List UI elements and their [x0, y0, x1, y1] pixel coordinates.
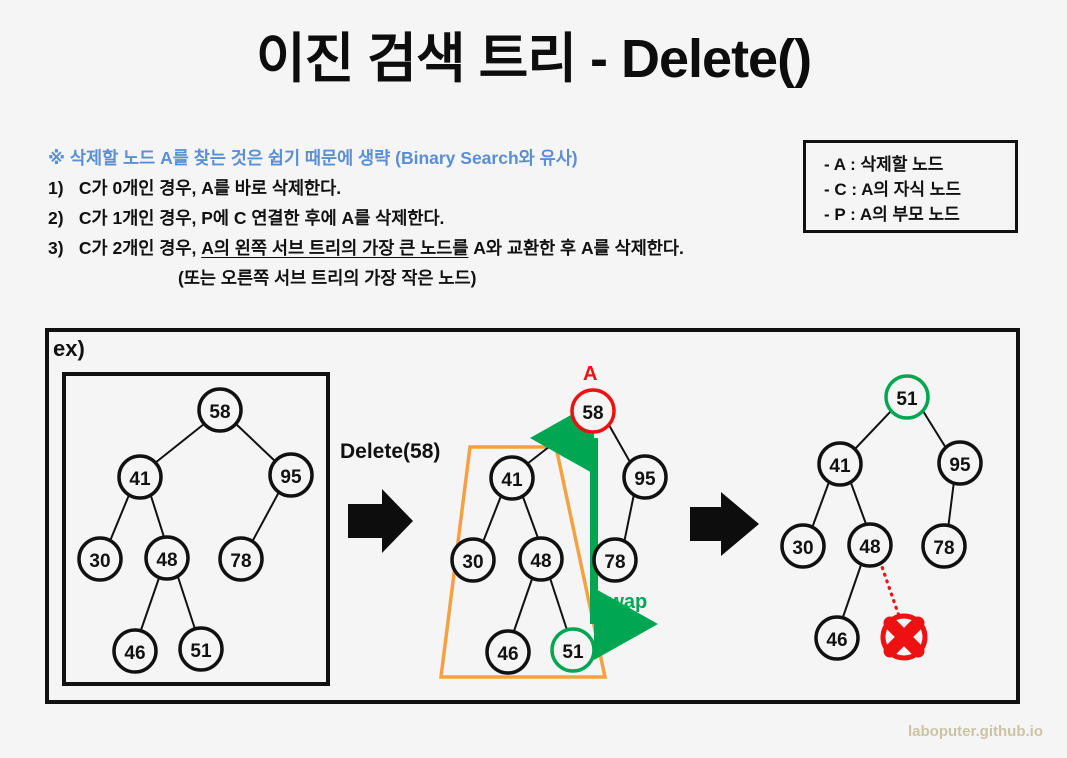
note-index-1: 1): [48, 173, 74, 203]
note-line-4: (또는 오른쪽 서브 트리의 가장 작은 노드): [48, 263, 808, 293]
delete-call-label: Delete(58): [340, 440, 440, 464]
note-line-1: 1) C가 0개인 경우, A를 바로 삭제한다.: [48, 173, 808, 203]
note-index-3: 3): [48, 233, 74, 263]
legend-box: - A : 삭제할 노드 - C : A의 자식 노드 - P : A의 부모 …: [803, 140, 1018, 233]
example-label: ex): [53, 336, 85, 362]
note-text-4: (또는 오른쪽 서브 트리의 가장 작은 노드): [178, 268, 476, 288]
note-line-3: 3) C가 2개인 경우, A의 왼쪽 서브 트리의 가장 큰 노드를 A와 교…: [48, 233, 808, 263]
note-index-0: ※: [48, 148, 65, 168]
marker-a-label: A: [583, 363, 597, 386]
example-outer-box: [45, 328, 1020, 704]
note-line-2: 2) C가 1개인 경우, P에 C 연결한 후에 A를 삭제한다.: [48, 203, 808, 233]
note-text-2: C가 1개인 경우, P에 C 연결한 후에 A를 삭제한다.: [79, 208, 445, 228]
legend-item-a: - A : 삭제할 노드: [824, 152, 1015, 177]
swap-label: Swap: [595, 591, 647, 614]
note-text-1: C가 0개인 경우, A를 바로 삭제한다.: [79, 178, 341, 198]
note-text-0: 삭제할 노드 A를 찾는 것은 쉽기 때문에 생략 (Binary Search…: [70, 148, 578, 168]
note-line-0: ※ 삭제할 노드 A를 찾는 것은 쉽기 때문에 생략 (Binary Sear…: [48, 143, 808, 173]
note-index-2: 2): [48, 203, 74, 233]
note-text-3-post: A와 교환한 후 A를 삭제한다.: [468, 238, 683, 258]
legend-item-p: - P : A의 부모 노드: [824, 202, 1015, 227]
legend-item-c: - C : A의 자식 노드: [824, 177, 1015, 202]
note-text-3-pre: C가 2개인 경우,: [79, 238, 201, 258]
note-text-3-underlined: A의 왼쪽 서브 트리의 가장 큰 노드를: [201, 238, 468, 258]
footer-watermark: laboputer.github.io: [908, 723, 1043, 740]
page-title: 이진 검색 트리 - Delete(): [0, 14, 1067, 93]
notes-list: ※ 삭제할 노드 A를 찾는 것은 쉽기 때문에 생략 (Binary Sear…: [48, 143, 808, 293]
